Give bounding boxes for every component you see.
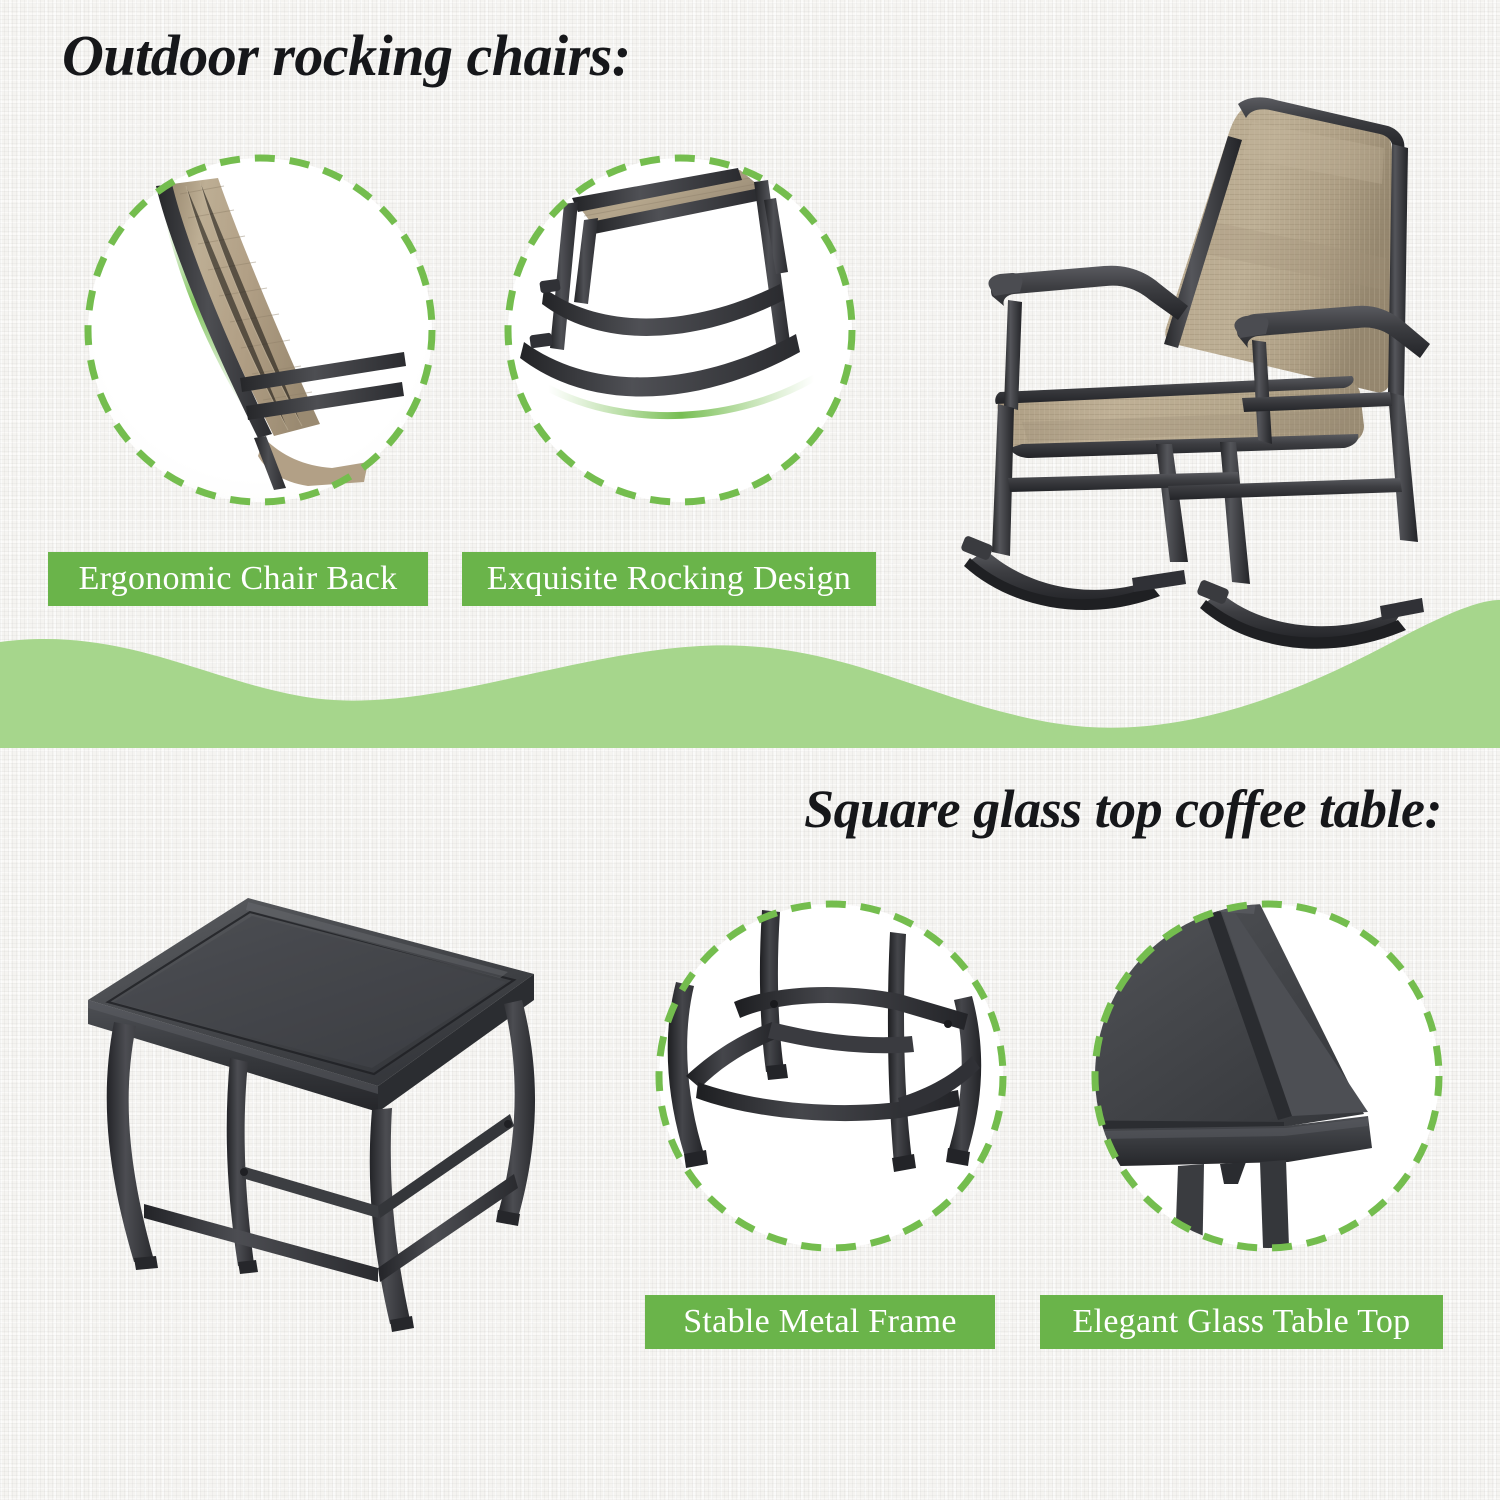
feature-banner-label: Ergonomic Chair Back <box>79 562 398 596</box>
section-title-coffee-table: Square glass top coffee table: <box>804 778 1442 840</box>
feature-banner-elegant-glass-table-top: Elegant Glass Table Top <box>1040 1295 1443 1349</box>
chair-back-detail-circle <box>68 138 452 522</box>
square-glass-top-side-table-photo <box>48 862 618 1342</box>
rocking-base-detail-circle <box>488 138 872 522</box>
feature-banner-label: Elegant Glass Table Top <box>1073 1305 1411 1339</box>
feature-banner-label: Stable Metal Frame <box>683 1305 957 1339</box>
infographic-stage: Outdoor rocking chairs: <box>0 0 1500 1500</box>
glass-top-detail-circle <box>1078 876 1456 1276</box>
feature-banner-exquisite-rocking-design: Exquisite Rocking Design <box>462 552 876 606</box>
section-title-rocking-chairs: Outdoor rocking chairs: <box>62 22 631 89</box>
table-frame-detail-circle <box>642 876 1020 1276</box>
outdoor-rocking-chair-photo <box>952 92 1472 672</box>
feature-banner-stable-metal-frame: Stable Metal Frame <box>645 1295 995 1349</box>
feature-banner-ergonomic-chair-back: Ergonomic Chair Back <box>48 552 428 606</box>
feature-banner-label: Exquisite Rocking Design <box>487 562 851 596</box>
